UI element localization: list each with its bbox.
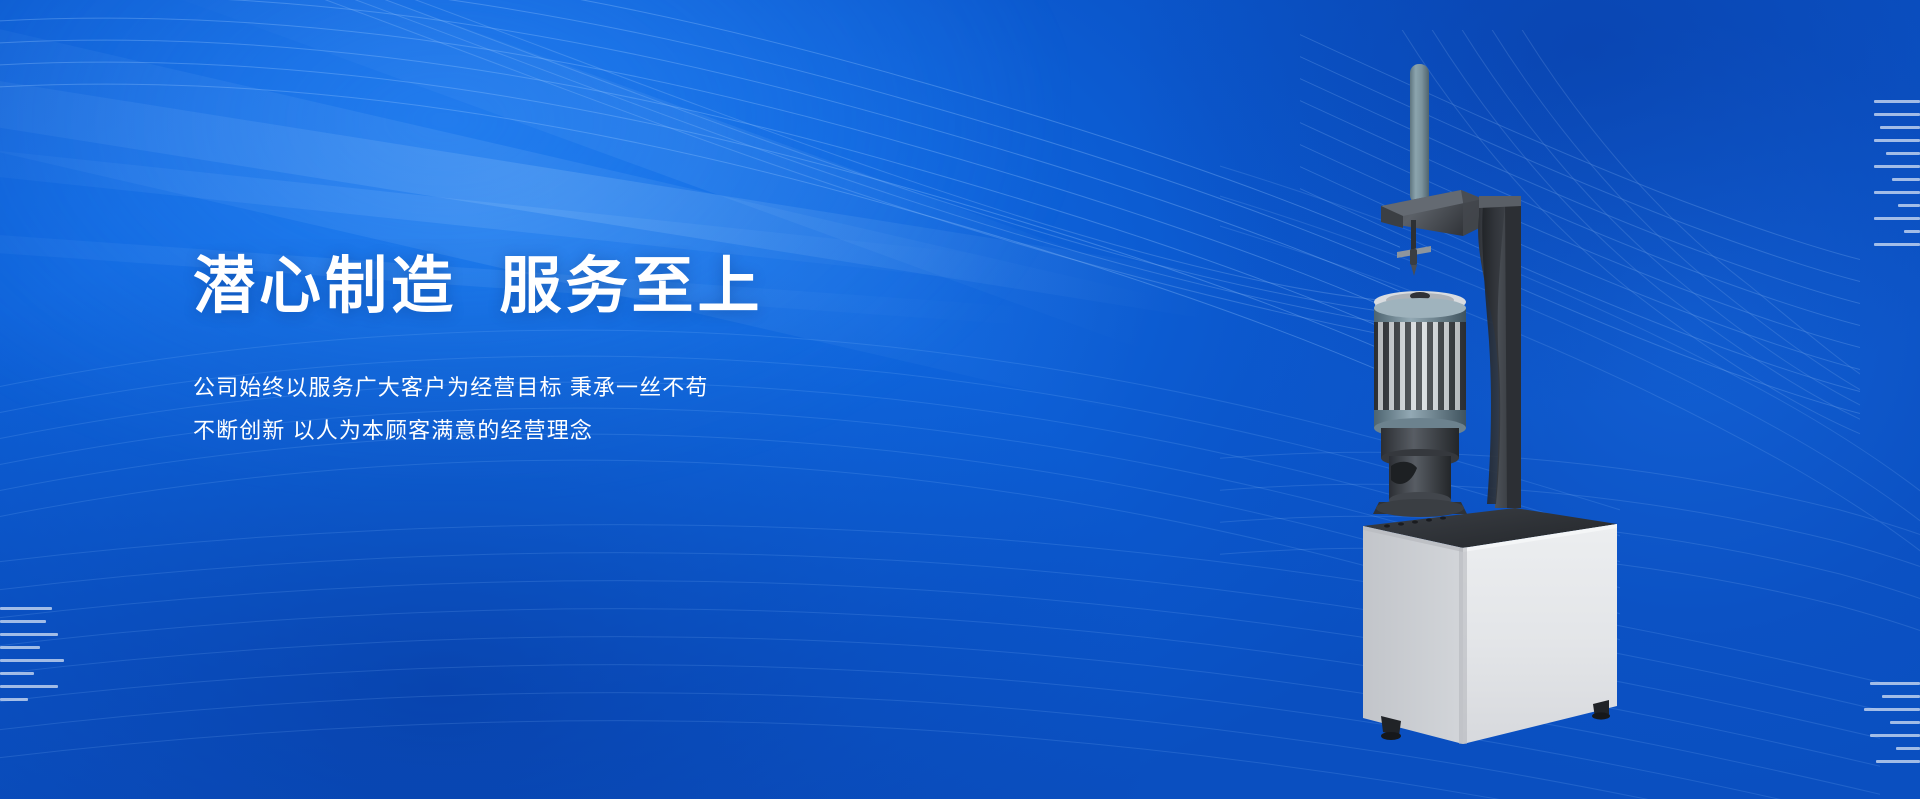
tick-bar	[0, 672, 34, 675]
hero-banner: 潜心制造 服务至上 公司始终以服务广大客户为经营目标 秉承一丝不苟 不断创新 以…	[0, 0, 1920, 799]
tick-bar	[1874, 139, 1920, 142]
tick-bar	[1864, 708, 1920, 711]
tick-bar	[1882, 695, 1920, 698]
tick-bar	[0, 659, 64, 662]
tick-bar	[1904, 230, 1920, 233]
tick-bar	[1886, 152, 1920, 155]
tick-bar	[1874, 113, 1920, 116]
tick-bar	[1874, 217, 1920, 220]
tick-bar	[1874, 243, 1920, 246]
tick-bar	[1874, 100, 1920, 103]
tick-bar	[1880, 126, 1920, 129]
tick-bar	[1876, 760, 1920, 763]
tick-bar	[1892, 178, 1920, 181]
decor-ticks-bottom-right	[1864, 682, 1920, 773]
decor-ticks-left	[0, 607, 64, 711]
finned-cylinder-head-part	[1374, 291, 1466, 438]
tick-bar	[1874, 191, 1920, 194]
product-machine-illustration	[1355, 56, 1625, 756]
tick-bar	[1896, 747, 1920, 750]
tick-bar	[1870, 682, 1920, 685]
curved-column-part	[1478, 196, 1521, 508]
tick-bar	[0, 646, 40, 649]
tick-bar	[1890, 721, 1920, 724]
subtitle-line-1: 公司始终以服务广大客户为经营目标 秉承一丝不苟	[193, 367, 953, 409]
tick-bar	[0, 607, 52, 610]
hero-subtitle: 公司始终以服务广大客户为经营目标 秉承一丝不苟 不断创新 以人为本顾客满意的经营…	[193, 367, 953, 451]
hero-copy: 潜心制造 服务至上 公司始终以服务广大客户为经营目标 秉承一丝不苟 不断创新 以…	[193, 252, 953, 452]
tick-bar	[1870, 734, 1920, 737]
tick-bar	[1874, 165, 1920, 168]
vertical-shaft-part	[1410, 64, 1429, 204]
tick-bar	[0, 698, 28, 701]
base-cabinet-part	[1363, 508, 1617, 744]
cantilever-arm-part	[1381, 190, 1483, 236]
decor-ticks-right	[1874, 100, 1920, 256]
tick-bar	[0, 620, 46, 623]
motor-housing-part	[1373, 428, 1467, 517]
subtitle-line-2: 不断创新 以人为本顾客满意的经营理念	[193, 410, 953, 452]
tick-bar	[1898, 204, 1920, 207]
tick-bar	[0, 685, 58, 688]
tick-bar	[0, 633, 58, 636]
page-title: 潜心制造 服务至上	[193, 252, 953, 321]
